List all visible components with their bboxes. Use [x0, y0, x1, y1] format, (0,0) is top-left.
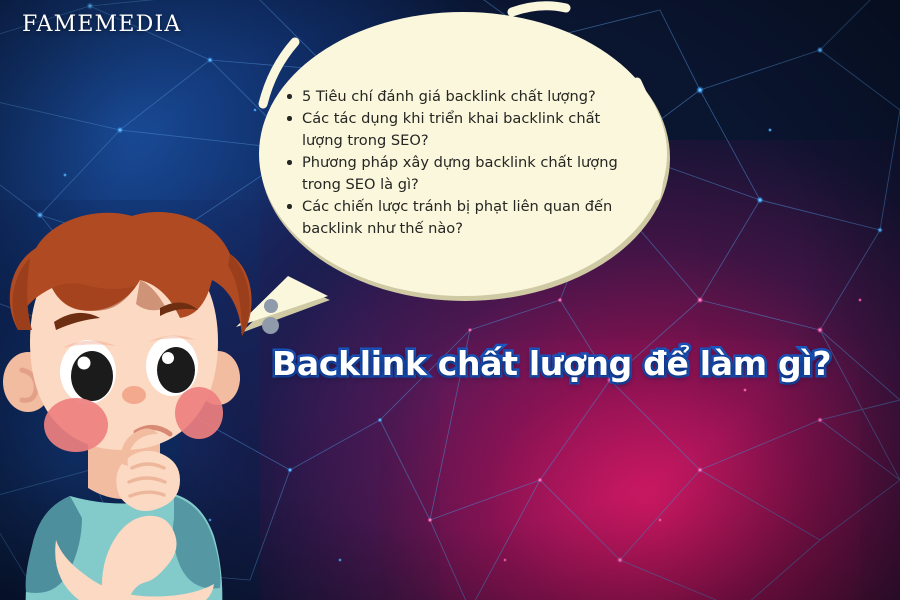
poster-canvas: FAMEMEDIA 5 Tiêu chí đánh giá backlink c…: [0, 0, 900, 600]
brand-logo-text: FAMEMEDIA: [22, 12, 181, 37]
question-item-4: Các chiến lược tránh bị phạt liên quan đ…: [286, 196, 638, 239]
thinking-boy-illustration: [0, 210, 292, 600]
boy-nose: [122, 386, 146, 404]
question-item-2: Các tác dụng khi triển khai backlink chấ…: [286, 108, 638, 151]
speech-bubble-text: 5 Tiêu chí đánh giá backlink chất lượng?…: [286, 86, 638, 240]
page-headline: Backlink chất lượng để làm gì?: [272, 344, 831, 383]
brand-logo: FAMEMEDIA: [22, 12, 181, 37]
question-item-1: 5 Tiêu chí đánh giá backlink chất lượng?: [286, 86, 638, 107]
question-list: 5 Tiêu chí đánh giá backlink chất lượng?…: [286, 86, 638, 239]
question-item-3: Phương pháp xây dựng backlink chất lượng…: [286, 152, 638, 195]
